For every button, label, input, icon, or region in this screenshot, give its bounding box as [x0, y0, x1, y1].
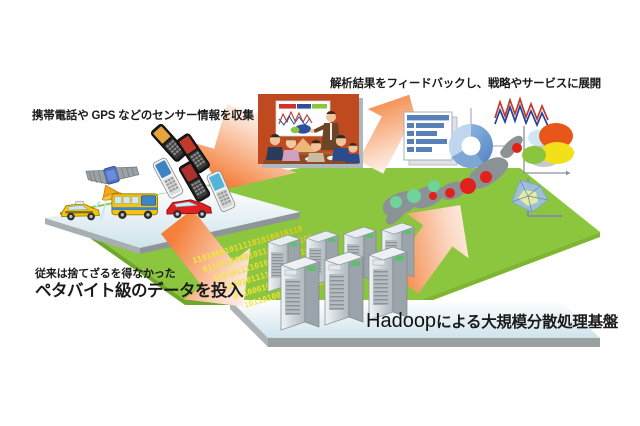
- bar-chart-icon: [404, 112, 457, 165]
- caption-petabyte-line1: 従来は捨てざるを得なかった: [35, 268, 243, 281]
- diagram-canvas: 110100010111101010010110 011011000010110…: [0, 0, 640, 426]
- bubble-chart-icon: [522, 123, 574, 176]
- server-rack-icon: [325, 252, 363, 325]
- line-chart-icon: [495, 99, 548, 126]
- meeting-room-presentation: [258, 94, 363, 168]
- caption-hadoop-platform: Hadoopによる大規模分散処理基盤: [366, 310, 618, 333]
- hadoop-subtitle: による大規模分散処理基盤: [436, 314, 618, 331]
- bus-icon: [112, 194, 158, 219]
- caption-petabyte-line2: ペタバイト級のデータを投入: [35, 282, 243, 301]
- caption-sensor-collection: 携帯電話や GPS などのセンサー情報を収集: [32, 110, 254, 123]
- diagram-illustration: 110100010111101010010110 011011000010110…: [0, 0, 640, 426]
- server-rack-icon: [281, 257, 319, 330]
- mobile-phone-icon: [152, 157, 184, 199]
- caption-feedback-deployment: 解析結果をフィードバックし、戦略やサービスに展開: [330, 78, 601, 91]
- caption-petabyte-input: 従来は捨てざるを得なかった ペタバイト級のデータを投入: [35, 268, 243, 301]
- hadoop-wordmark: Hadoop: [366, 310, 436, 332]
